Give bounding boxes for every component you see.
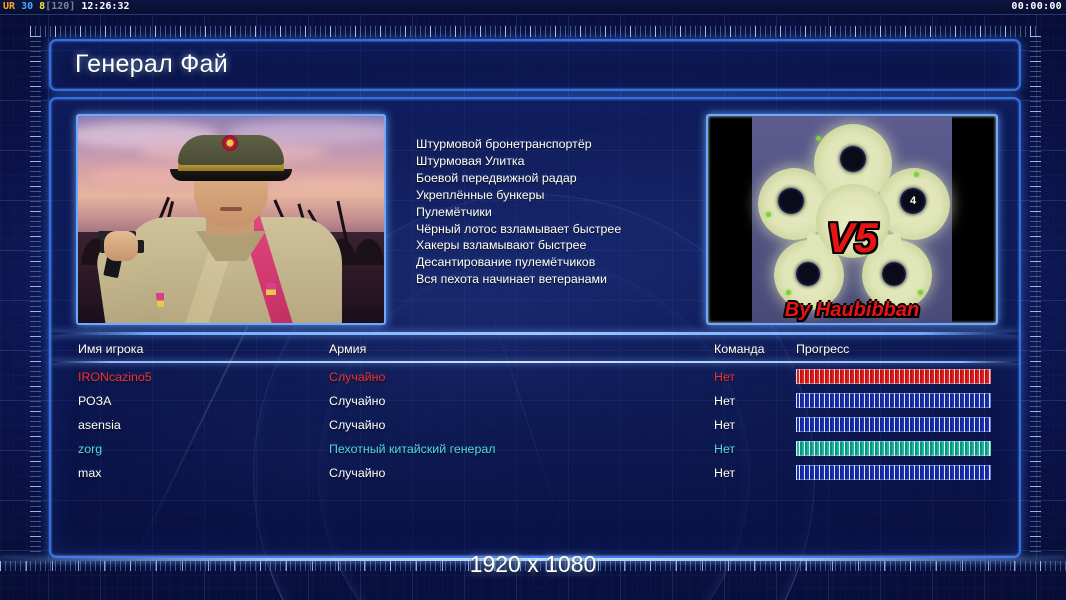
ability-item: Боевой передвижной радар [416, 170, 716, 187]
map-author-label: By Haubibban [708, 299, 996, 322]
status-clock: 12:26:32 [81, 1, 129, 12]
map-start-position [778, 188, 804, 214]
status-prefix: UR [3, 1, 15, 12]
column-header-name: Имя игрока [78, 342, 143, 356]
game-lobby-screen: UR 30 8[120] 12:26:32 00:00:00 Генерал Ф… [0, 0, 1066, 600]
medal-icon [266, 283, 276, 295]
cap-badge-icon [222, 135, 238, 151]
map-start-position [882, 262, 906, 286]
ability-list: Штурмовой бронетранспортёр Штурмовая Ули… [416, 136, 716, 288]
player-team[interactable]: Нет [714, 365, 735, 389]
column-header-progress: Прогресс [796, 342, 849, 356]
status-value-1: 30 [21, 1, 33, 12]
ability-item: Штурмовой бронетранспортёр [416, 136, 716, 153]
player-progress-bar [796, 465, 991, 480]
player-team[interactable]: Нет [714, 389, 735, 413]
player-name: max [78, 461, 101, 485]
player-team[interactable]: Нет [714, 437, 735, 461]
status-timer: 00:00:00 [1011, 0, 1062, 14]
status-bar-left: UR 30 8[120] 12:26:32 [3, 0, 130, 14]
table-row[interactable]: maxСлучайноНет [51, 461, 1019, 485]
map-version-label: V5 [708, 214, 996, 262]
portrait-hand [104, 231, 138, 261]
player-team[interactable]: Нет [714, 413, 735, 437]
player-army[interactable]: Пехотный китайский генерал [329, 437, 495, 461]
column-header-team: Команда [714, 342, 764, 356]
player-name: IRONcazino5 [78, 365, 152, 389]
player-list: IRONcazino5СлучайноНетРОЗАСлучайноНетase… [51, 365, 1019, 485]
player-army[interactable]: Случайно [329, 365, 385, 389]
status-bracket: [120] [45, 1, 75, 12]
ability-item: Укреплённые бункеры [416, 187, 716, 204]
ability-item: Штурмовая Улитка [416, 153, 716, 170]
player-progress-bar [796, 417, 991, 432]
table-row[interactable]: zorgПехотный китайский генералНет [51, 437, 1019, 461]
ruler-right [1030, 36, 1041, 556]
map-resource-dot [914, 172, 919, 177]
player-army[interactable]: Случайно [329, 461, 385, 485]
status-bar: UR 30 8[120] 12:26:32 00:00:00 [0, 0, 1066, 15]
map-resource-dot [918, 290, 923, 295]
player-name: asensia [78, 413, 121, 437]
page-title: Генерал Фай [75, 50, 228, 79]
player-name: РОЗА [78, 389, 111, 413]
table-row[interactable]: asensiaСлучайноНет [51, 413, 1019, 437]
map-start-position [796, 262, 820, 286]
ability-item: Пулемётчики [416, 204, 716, 221]
ability-item: Вся пехота начинает ветеранами [416, 271, 716, 288]
column-header-army: Армия [329, 342, 366, 356]
main-panel: Штурмовой бронетранспортёр Штурмовая Ули… [49, 97, 1021, 558]
player-progress-bar [796, 441, 991, 456]
resolution-label: 1920 x 1080 [0, 551, 1066, 578]
table-row[interactable]: РОЗАСлучайноНет [51, 389, 1019, 413]
map-resource-dot [816, 136, 821, 141]
section-divider [51, 332, 1019, 335]
player-army[interactable]: Случайно [329, 389, 385, 413]
player-army[interactable]: Случайно [329, 413, 385, 437]
player-progress-bar [796, 393, 991, 408]
ability-item: Хакеры взламывают быстрее [416, 237, 716, 254]
ability-item: Десантирование пулемётчиков [416, 254, 716, 271]
map-preview[interactable]: 4 V5 By Haubibban [706, 114, 998, 325]
ability-item: Чёрный лотос взламывает быстрее [416, 221, 716, 238]
portrait-mouth [220, 207, 242, 211]
header-rule [51, 361, 1019, 363]
ruler-left [30, 36, 41, 556]
player-progress-bar [796, 369, 991, 384]
ruler-top [30, 26, 1036, 37]
map-start-position-number: 4 [904, 192, 922, 210]
general-portrait [76, 114, 386, 325]
player-team[interactable]: Нет [714, 461, 735, 485]
map-start-position [840, 146, 866, 172]
title-panel: Генерал Фай [49, 39, 1021, 91]
player-table-header: Имя игрока Армия Команда Прогресс [51, 340, 1019, 362]
table-row[interactable]: IRONcazino5СлучайноНет [51, 365, 1019, 389]
general-portrait-art [78, 116, 384, 323]
player-name: zorg [78, 437, 102, 461]
map-resource-dot [786, 290, 791, 295]
